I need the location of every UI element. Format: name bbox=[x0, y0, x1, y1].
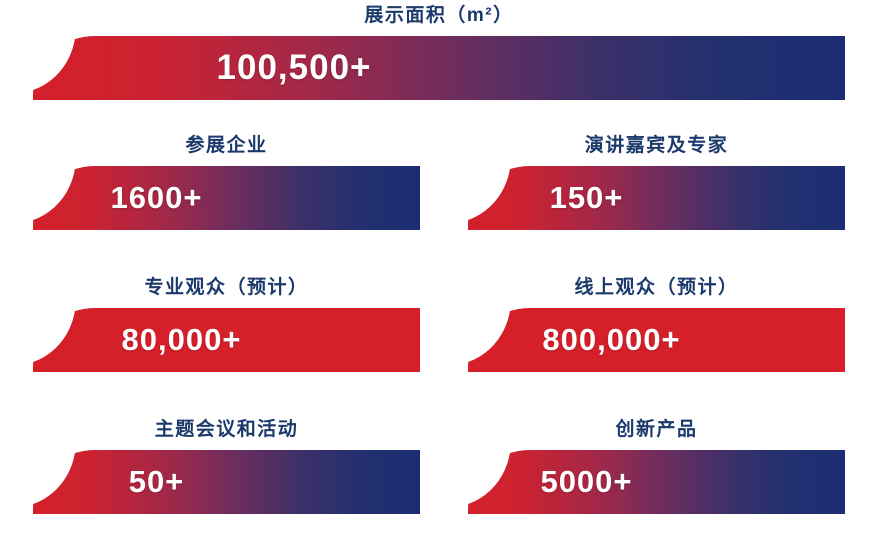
stat-row-3: 专业观众（预计） 80,000+ 线上观众（预计） 800,000+ bbox=[0, 272, 886, 390]
stat-caption-themed-conferences: 主题会议和活动 bbox=[33, 417, 420, 443]
stat-cell-themed-conferences: 主题会议和活动 50+ bbox=[33, 414, 420, 532]
stat-value-exhibition-area: 100,500+ bbox=[33, 36, 845, 100]
stat-cell-exhibiting-companies: 参展企业 1600+ bbox=[33, 130, 420, 248]
stat-bar-professional-visitors: 80,000+ bbox=[33, 308, 420, 372]
stat-bar-wrap-online-visitors: 800,000+ bbox=[468, 308, 845, 372]
stat-bar-wrap-professional-visitors: 80,000+ bbox=[33, 308, 420, 372]
stat-caption-innovative-products: 创新产品 bbox=[468, 417, 845, 443]
stats-board: 展示面积（m²） 100,500+ 参展企业 1600+ bbox=[0, 0, 886, 557]
stat-cell-speakers-and-experts: 演讲嘉宾及专家 150+ bbox=[468, 130, 845, 248]
stat-value-professional-visitors: 80,000+ bbox=[33, 308, 420, 372]
stat-caption-exhibiting-companies: 参展企业 bbox=[33, 133, 420, 159]
stat-caption-exhibition-area: 展示面积（m²） bbox=[33, 3, 845, 29]
stat-bar-wrap-themed-conferences: 50+ bbox=[33, 450, 420, 514]
stat-row-2: 参展企业 1600+ 演讲嘉宾及专家 150+ bbox=[0, 130, 886, 248]
stat-bar-themed-conferences: 50+ bbox=[33, 450, 420, 514]
stat-value-exhibiting-companies: 1600+ bbox=[33, 166, 420, 230]
stat-caption-online-visitors: 线上观众（预计） bbox=[468, 275, 845, 301]
stat-bar-wrap-exhibiting-companies: 1600+ bbox=[33, 166, 420, 230]
stat-cell-innovative-products: 创新产品 5000+ bbox=[468, 414, 845, 532]
stat-bar-exhibition-area: 100,500+ bbox=[33, 36, 845, 100]
stat-bar-speakers-and-experts: 150+ bbox=[468, 166, 845, 230]
stat-value-themed-conferences: 50+ bbox=[33, 450, 420, 514]
stat-bar-wrap-speakers-and-experts: 150+ bbox=[468, 166, 845, 230]
stat-bar-online-visitors: 800,000+ bbox=[468, 308, 845, 372]
stat-caption-speakers-and-experts: 演讲嘉宾及专家 bbox=[468, 133, 845, 159]
stat-cell-professional-visitors: 专业观众（预计） 80,000+ bbox=[33, 272, 420, 390]
stat-row-4: 主题会议和活动 50+ 创新产品 5000+ bbox=[0, 414, 886, 532]
stat-caption-professional-visitors: 专业观众（预计） bbox=[33, 275, 420, 301]
stat-cell-online-visitors: 线上观众（预计） 800,000+ bbox=[468, 272, 845, 390]
stat-value-online-visitors: 800,000+ bbox=[468, 308, 845, 372]
stat-bar-wrap-innovative-products: 5000+ bbox=[468, 450, 845, 514]
stat-value-innovative-products: 5000+ bbox=[468, 450, 845, 514]
stat-bar-innovative-products: 5000+ bbox=[468, 450, 845, 514]
stat-row-1: 展示面积（m²） 100,500+ bbox=[0, 0, 886, 118]
stat-value-speakers-and-experts: 150+ bbox=[468, 166, 845, 230]
stat-bar-wrap-exhibition-area: 100,500+ bbox=[33, 36, 845, 100]
stat-bar-exhibiting-companies: 1600+ bbox=[33, 166, 420, 230]
stat-cell-exhibition-area: 展示面积（m²） 100,500+ bbox=[33, 0, 845, 118]
